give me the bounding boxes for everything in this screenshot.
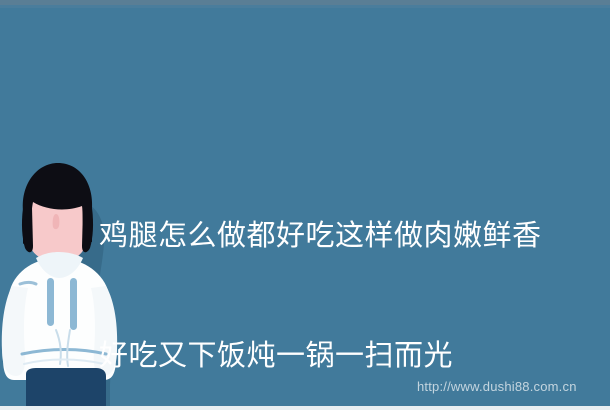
headline-line-1: 鸡腿怎么做都好吃这样做肉嫩鲜香 — [99, 216, 579, 256]
article-cover-banner: 鸡腿怎么做都好吃这样做肉嫩鲜香 好吃又下饭炖一锅一扫而光 http://www.… — [0, 0, 610, 410]
headline: 鸡腿怎么做都好吃这样做肉嫩鲜香 好吃又下饭炖一锅一扫而光 — [99, 136, 579, 410]
pants — [26, 368, 106, 406]
top-edge-strip-secondary — [0, 5, 610, 8]
bottom-edge-strip — [0, 406, 610, 410]
watermark-url: http://www.dushi88.com.cn — [417, 379, 577, 394]
headline-line-2: 好吃又下饭炖一锅一扫而光 — [99, 336, 579, 376]
